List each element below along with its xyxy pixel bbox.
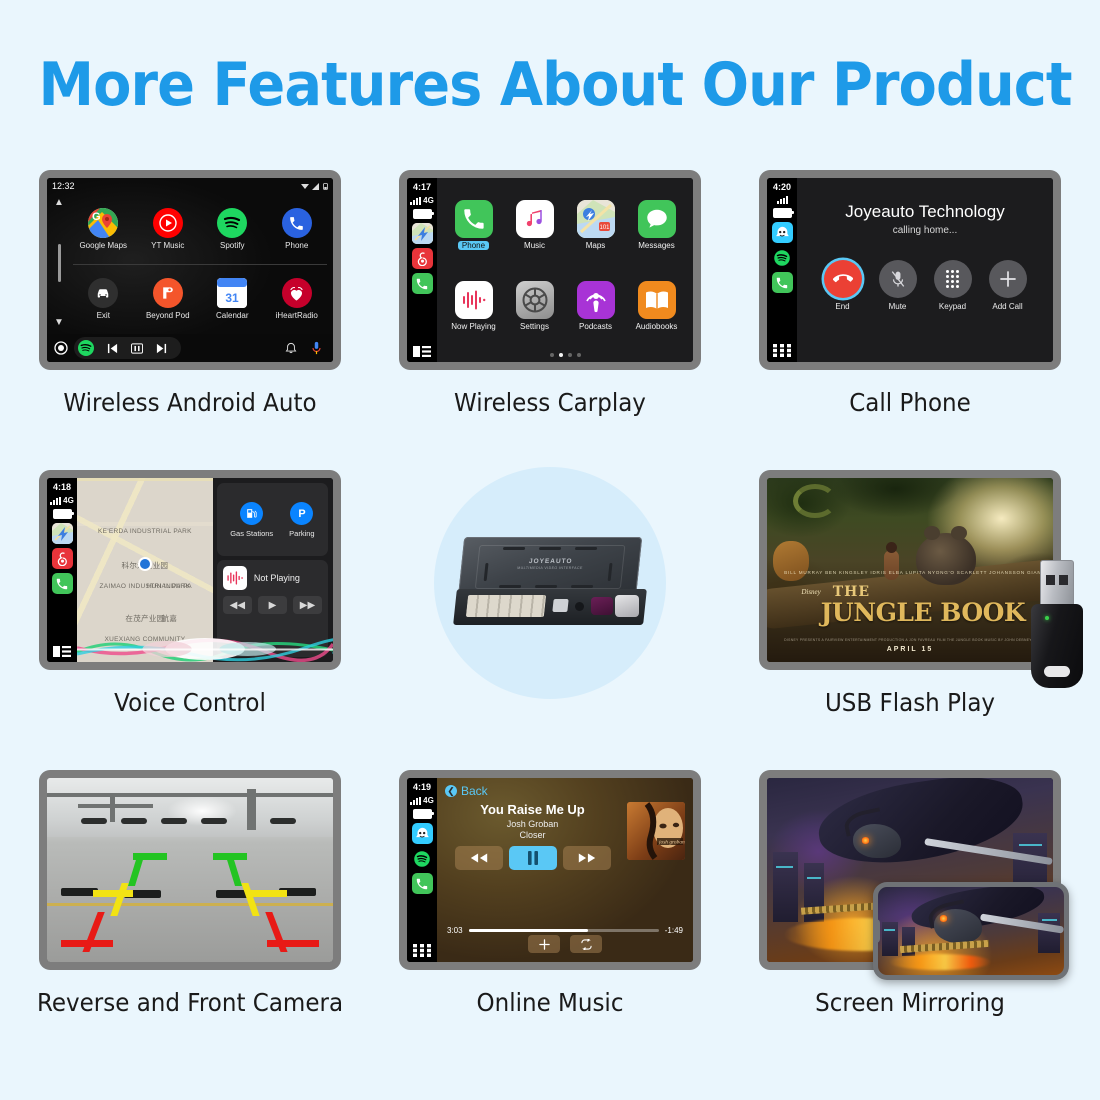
divider [73,264,327,265]
android-auto-ui: 12:32 ▲ ▼ [47,178,333,362]
chevron-up-icon[interactable]: ▲ [54,198,64,208]
app-phone[interactable]: Phone [443,185,504,266]
mic-hole [575,602,584,611]
maps-icon[interactable] [412,223,433,244]
status-time: 4:17 [413,182,431,192]
mirrored-game-artwork [878,887,1064,975]
netease-music-icon[interactable] [412,248,433,269]
status-time: 4:19 [413,782,431,792]
guideline-green-left-tick [133,853,167,860]
app-label: Audiobooks [636,322,678,331]
progress-track[interactable] [469,929,659,932]
back-button[interactable]: ❮ Back [445,784,685,798]
button-label: Mute [889,302,907,311]
guideline-yellow-left [110,883,128,916]
fire-glow [889,954,991,970]
parked-car [121,818,147,824]
signal-icon [777,196,788,204]
status-icons [301,183,328,190]
app-label: Beyond Pod [146,311,190,320]
messages-icon [638,200,676,238]
character-head [853,824,901,858]
cell-caption: Wireless Carplay [382,388,719,417]
device-subtitle-text: MULTIMEDIA VIDEO INTERFACE [517,566,583,570]
neon-light [884,929,895,931]
waze-icon[interactable] [772,222,793,243]
spotify-icon [217,208,247,238]
page-dot[interactable] [550,353,554,357]
feature-cell-screen-mirroring: Screen Mirroring [727,770,1093,970]
page-dot[interactable] [568,353,572,357]
fakra-purple [591,597,613,615]
app-label: Messages [638,241,674,250]
suggestions-card: Gas Stations P Parking [217,483,328,556]
device-vent [539,547,561,550]
button-label: Keypad [939,302,966,311]
now-playing-icon [455,281,493,319]
app-spotify[interactable]: Spotify [200,194,265,264]
network-label: 4G [423,796,434,805]
usb-flash-screen[interactable]: BILL MURRAY BEN KINGSLEY IDRIS ELBA LUPI… [767,478,1053,662]
app-label: Exit [97,311,110,320]
battery-icon [323,183,328,190]
android-auto-dock [47,334,333,362]
map-label: KE'ERDA INDUSTRIAL PARK [77,528,213,536]
grid-icon[interactable] [773,344,791,357]
fast-forward-icon[interactable] [563,846,611,870]
voice-control-ui: 4:18 4G [47,478,333,662]
siri-waveform [77,628,333,662]
product-features-page: More Features About Our Product 12:32 [0,0,1100,1100]
parking-icon: P [290,502,313,525]
keypad-dots [946,270,959,288]
feature-cell-device-module: JOYEAUTO MULTIMEDIA VIDEO INTERFACE [367,470,733,695]
progress-row[interactable]: 3:03 -1:49 [445,926,685,935]
app-podcasts[interactable]: Podcasts [565,266,626,347]
parked-car [81,818,107,824]
app-now-playing[interactable]: Now Playing [443,266,504,347]
apple-music-icon [516,200,554,238]
voice-control-screen[interactable]: 4:18 4G [47,478,333,662]
exit-car-icon [88,278,118,308]
feature-cell-usb-flash-play: BILL MURRAY BEN KINGSLEY IDRIS ELBA LUPI… [727,470,1093,670]
guideline-red-left-tick [61,940,112,947]
mic-mute-icon [879,260,917,298]
dock-right-icons [285,341,326,355]
usb-lanyard-slot [1044,666,1070,677]
svg-text:P: P [298,508,305,520]
end-call-button[interactable]: End [824,260,862,311]
device-logo-text: JOYEAUTO [518,558,584,565]
call-ui: 4:20 [767,178,1053,362]
app-label: Music [524,241,545,250]
mic-icon[interactable] [311,341,322,355]
next-icon[interactable] [156,343,167,354]
usb-body [1031,604,1083,688]
music-main: ❮ Back You Raise Me Up Josh Groban Close… [437,778,693,962]
album-art: josh groban [627,802,685,860]
suggestion-parking[interactable]: P Parking [289,502,314,538]
add-icon[interactable] [528,935,560,953]
gas-station-icon [240,502,263,525]
cell-caption: Call Phone [742,388,1079,417]
online-music-screen[interactable]: 4:19 4G [407,778,693,962]
app-label: Maps [586,241,606,250]
signal-icon [410,197,421,205]
app-iheartradio[interactable]: iHeartRadio [265,264,330,334]
carplay-main: Phone Music 10 [437,178,693,362]
spotify-icon[interactable] [412,848,433,869]
parked-car [201,818,227,824]
head-unit-online-music[interactable]: 4:19 4G [399,770,701,970]
interface-box-device: JOYEAUTO MULTIMEDIA VIDEO INTERFACE [455,537,645,629]
city-building [773,852,799,922]
cell-caption: Wireless Android Auto [22,388,359,417]
network-label: 4G [423,196,434,205]
app-settings[interactable]: Settings [504,266,565,347]
wifi-icon [301,183,309,190]
media-controls[interactable] [74,337,181,359]
plus-icon [989,260,1027,298]
progress-fill [469,929,589,932]
app-audiobooks[interactable]: Audiobooks [626,266,687,347]
head-unit-usb-flash[interactable]: BILL MURRAY BEN KINGSLEY IDRIS ELBA LUPI… [759,470,1061,670]
ceiling-beam [78,804,152,808]
previous-icon[interactable] [107,343,118,354]
network-status: 4G [50,496,74,505]
music-ui: 4:19 4G [407,778,693,962]
audiobooks-icon [638,281,676,319]
call-status-text: calling home... [893,225,957,236]
apple-maps-icon: 101 [577,200,615,238]
back-label: Back [461,784,488,798]
spotify-icon[interactable] [772,247,793,268]
bell-icon[interactable] [285,342,297,355]
network-status: 4G [410,796,434,805]
usb-connector [1040,560,1074,608]
playback-controls [455,846,611,870]
status-time: 4:20 [773,182,791,192]
android-auto-scroll-rail[interactable]: ▲ ▼ [47,194,71,334]
keypad-button[interactable]: Keypad [934,260,972,311]
svg-text:G: G [92,211,101,223]
android-auto-app-area: ▲ ▼ G Google Maps [47,194,333,334]
feature-cell-wireless-carplay: 4:17 4G [367,170,733,370]
repeat-icon[interactable] [570,935,602,953]
phone-icon[interactable] [412,873,433,894]
neon-light [776,866,793,868]
home-icon[interactable] [54,341,68,355]
poster-title-text: JUNGLE BOOK [810,598,1036,627]
character-head [934,909,982,943]
app-google-maps[interactable]: G Google Maps [71,194,136,264]
battery-icon [413,809,432,819]
suggestion-gas-stations[interactable]: Gas Stations [230,502,273,538]
bear-baloo [916,533,976,585]
rewind-icon[interactable] [455,846,503,870]
parked-car [270,818,296,824]
map-label: HUN INDU PA [126,583,213,591]
iheartradio-icon [282,278,312,308]
play-icon[interactable]: ▶ [258,596,287,614]
app-calendar[interactable]: 31 Calendar [200,264,265,334]
cell-caption: Reverse and Front Camera [22,988,359,1017]
guideline-red-right-tick [267,940,318,947]
chevron-left-icon: ❮ [445,785,457,797]
now-playing-text: Not Playing [254,573,300,583]
usb-flash-drive [1031,560,1083,688]
app-maps[interactable]: 101 Maps [565,185,626,266]
feature-cell-call-phone: 4:20 [727,170,1093,370]
guideline-yellow-left-tick [93,890,133,897]
reverse-camera-screen[interactable] [47,778,333,962]
poster-credits-text: DISNEY PRESENTS A FAIRVIEW ENTERTAINMENT… [784,638,1036,642]
signal-icon [50,497,61,505]
battery-icon [53,509,72,519]
neon-light [1019,844,1042,846]
network-status: 4G [410,196,434,205]
android-auto-screen[interactable]: 12:32 ▲ ▼ [47,178,333,362]
now-playing-row[interactable]: Not Playing [223,566,322,590]
call-main: Joyeauto Technology calling home... End [797,178,1053,362]
remaining-time: -1:49 [665,926,683,935]
music-sidebar: 4:19 4G [407,778,437,962]
album-art-text: josh groban [658,840,685,846]
app-label: YT Music [151,241,184,250]
cell-caption: Online Music [382,988,719,1017]
app-yt-music[interactable]: YT Music [136,194,201,264]
power-connector [466,595,546,617]
now-playing-icon [223,566,247,590]
device-vent [575,547,597,550]
guideline-yellow-right-tick [247,890,287,897]
fast-forward-icon[interactable]: ▶▶ [293,596,322,614]
cell-caption: Screen Mirroring [742,988,1079,1017]
garage-pillar [247,789,256,829]
usb-port [552,599,568,612]
track-album: Closer [519,830,545,840]
app-label: Phone [458,241,489,250]
signal-icon [410,797,421,805]
head-unit-reverse-camera[interactable] [39,770,341,970]
status-time: 12:32 [52,181,75,191]
battery-icon [413,209,432,219]
voice-sidebar: 4:18 4G [47,478,77,662]
guideline-green-right-tick [213,853,247,860]
grid-icon[interactable] [413,944,431,957]
neon-light [1042,919,1057,921]
phone-icon [455,200,493,238]
phone-notch [873,919,880,943]
music-body: You Raise Me Up Josh Groban Closer [445,798,685,926]
feature-cell-online-music: 4:19 4G [367,770,733,970]
scrollbar-thumb[interactable] [58,244,61,282]
usb-led-icon [1045,616,1049,620]
chevron-down-icon[interactable]: ▼ [54,318,64,328]
app-beyond-pod[interactable]: Beyond Pod [136,264,201,334]
current-location-dot [138,557,152,571]
app-label: Phone [285,241,308,250]
feature-cell-voice-control: 4:18 4G [7,470,373,670]
device-vent [571,585,593,588]
elapsed-time: 3:03 [447,926,463,935]
phone-icon[interactable] [52,573,73,594]
add-call-button[interactable]: Add Call [989,260,1027,311]
calendar-icon: 31 [217,278,247,308]
app-label: Google Maps [79,241,127,250]
app-exit[interactable]: Exit [71,264,136,334]
carplay-page-dots[interactable] [437,353,693,357]
android-auto-app-grid: G Google Maps YT Music [71,194,333,334]
signal-icon [312,183,320,190]
fakra-white [615,595,639,617]
android-auto-status-bar: 12:32 [47,178,333,194]
phone-icon[interactable] [772,272,793,293]
reverse-camera-view [47,778,333,962]
device-branding: JOYEAUTO MULTIMEDIA VIDEO INTERFACE [517,558,584,570]
disney-logo-text: Disney [801,588,820,596]
lane-marking [47,903,333,906]
phone-icon[interactable] [412,273,433,294]
device-vent [535,585,557,588]
boy-mowgli [884,550,899,580]
app-label: Now Playing [451,322,495,331]
network-label: 4G [63,496,74,505]
map-label: 航嘉 [126,614,213,623]
app-phone[interactable]: Phone [265,194,330,264]
app-label: Podcasts [579,322,612,331]
track-info: You Raise Me Up Josh Groban Closer [445,802,620,870]
end-call-icon [824,260,862,298]
parked-car [161,818,187,824]
cell-caption: Voice Control [22,688,359,717]
app-music[interactable]: Music [504,185,565,266]
carplay-sidebar: 4:17 4G [407,178,437,362]
app-label: Spotify [220,241,244,250]
call-action-row: End Mute [824,260,1027,311]
head-unit-carplay[interactable]: 4:17 4G [399,170,701,370]
page-dot-active[interactable] [559,353,563,357]
pause-icon[interactable] [509,846,557,870]
waze-icon[interactable] [412,823,433,844]
guideline-yellow-right [241,883,259,916]
phone-icon [282,208,312,238]
voice-main: KE'ERDA INDUSTRIAL PARK 科尔达工业园 ZAIMAO IN… [77,478,333,662]
smartphone[interactable] [873,882,1069,980]
calendar-day: 31 [226,291,240,305]
page-title: More Features About Our Product [39,50,1062,120]
feature-cell-wireless-android-auto: 12:32 ▲ ▼ [7,170,373,370]
track-artist: Josh Groban [507,819,559,829]
caller-name: Joyeauto Technology [845,202,1004,222]
settings-gear-icon [516,281,554,319]
poster-release-date: APRIL 15 [767,646,1053,653]
device-vent [503,547,525,550]
suggestion-label: Parking [289,529,314,538]
carplay-app-grid: Phone Music 10 [437,178,693,346]
svg-text:101: 101 [599,225,610,231]
netease-music-icon[interactable] [52,548,73,569]
spotify-icon[interactable] [78,340,94,356]
page-dot[interactable] [577,353,581,357]
beyondpod-icon [153,278,183,308]
maps-icon[interactable] [52,523,73,544]
list-grid-toggle-icon[interactable] [413,346,431,357]
extra-controls [445,935,685,956]
app-label: iHeartRadio [276,311,318,320]
neon-light [807,877,821,879]
cell-caption: USB Flash Play [742,688,1079,717]
app-label: Calendar [216,311,248,320]
youtube-music-icon [153,208,183,238]
pause-icon[interactable] [131,343,143,354]
ceiling-beam [47,793,333,797]
track-title: You Raise Me Up [480,802,585,817]
poster-cast-text: BILL MURRAY BEN KINGSLEY IDRIS ELBA LUPI… [784,570,1036,575]
mute-button[interactable]: Mute [879,260,917,311]
feature-cell-reverse-camera: Reverse and Front Camera [7,770,373,970]
keypad-icon [934,260,972,298]
app-messages[interactable]: Messages [626,185,687,266]
device-module-wrap: JOYEAUTO MULTIMEDIA VIDEO INTERFACE [367,470,733,695]
head-unit-call[interactable]: 4:20 [759,170,1061,370]
call-sidebar: 4:20 [767,178,797,362]
transport-controls: ◀◀ ▶ ▶▶ [223,596,322,614]
status-time: 4:18 [53,482,71,492]
city-building [882,922,899,955]
snake-kaa [793,484,837,518]
carplay-ui: 4:17 4G [407,178,693,362]
head-unit-screen-mirroring[interactable] [759,770,1061,970]
button-label: End [835,302,849,311]
google-maps-icon: G [88,208,118,238]
podcasts-icon [577,281,615,319]
head-unit-voice-control[interactable]: 4:18 4G [39,470,341,670]
list-grid-toggle-icon[interactable] [53,646,71,657]
button-label: Add Call [992,302,1022,311]
phone-screen[interactable] [878,887,1064,975]
head-unit-android-auto[interactable]: 12:32 ▲ ▼ [39,170,341,370]
suggestion-label: Gas Stations [230,529,273,538]
carplay-screen[interactable]: 4:17 4G [407,178,693,362]
call-screen[interactable]: 4:20 [767,178,1053,362]
app-label: Settings [520,322,549,331]
battery-icon [773,208,792,218]
rewind-icon[interactable]: ◀◀ [223,596,252,614]
jungle-book-poster: BILL MURRAY BEN KINGSLEY IDRIS ELBA LUPI… [767,478,1053,662]
device-vent [499,585,521,588]
